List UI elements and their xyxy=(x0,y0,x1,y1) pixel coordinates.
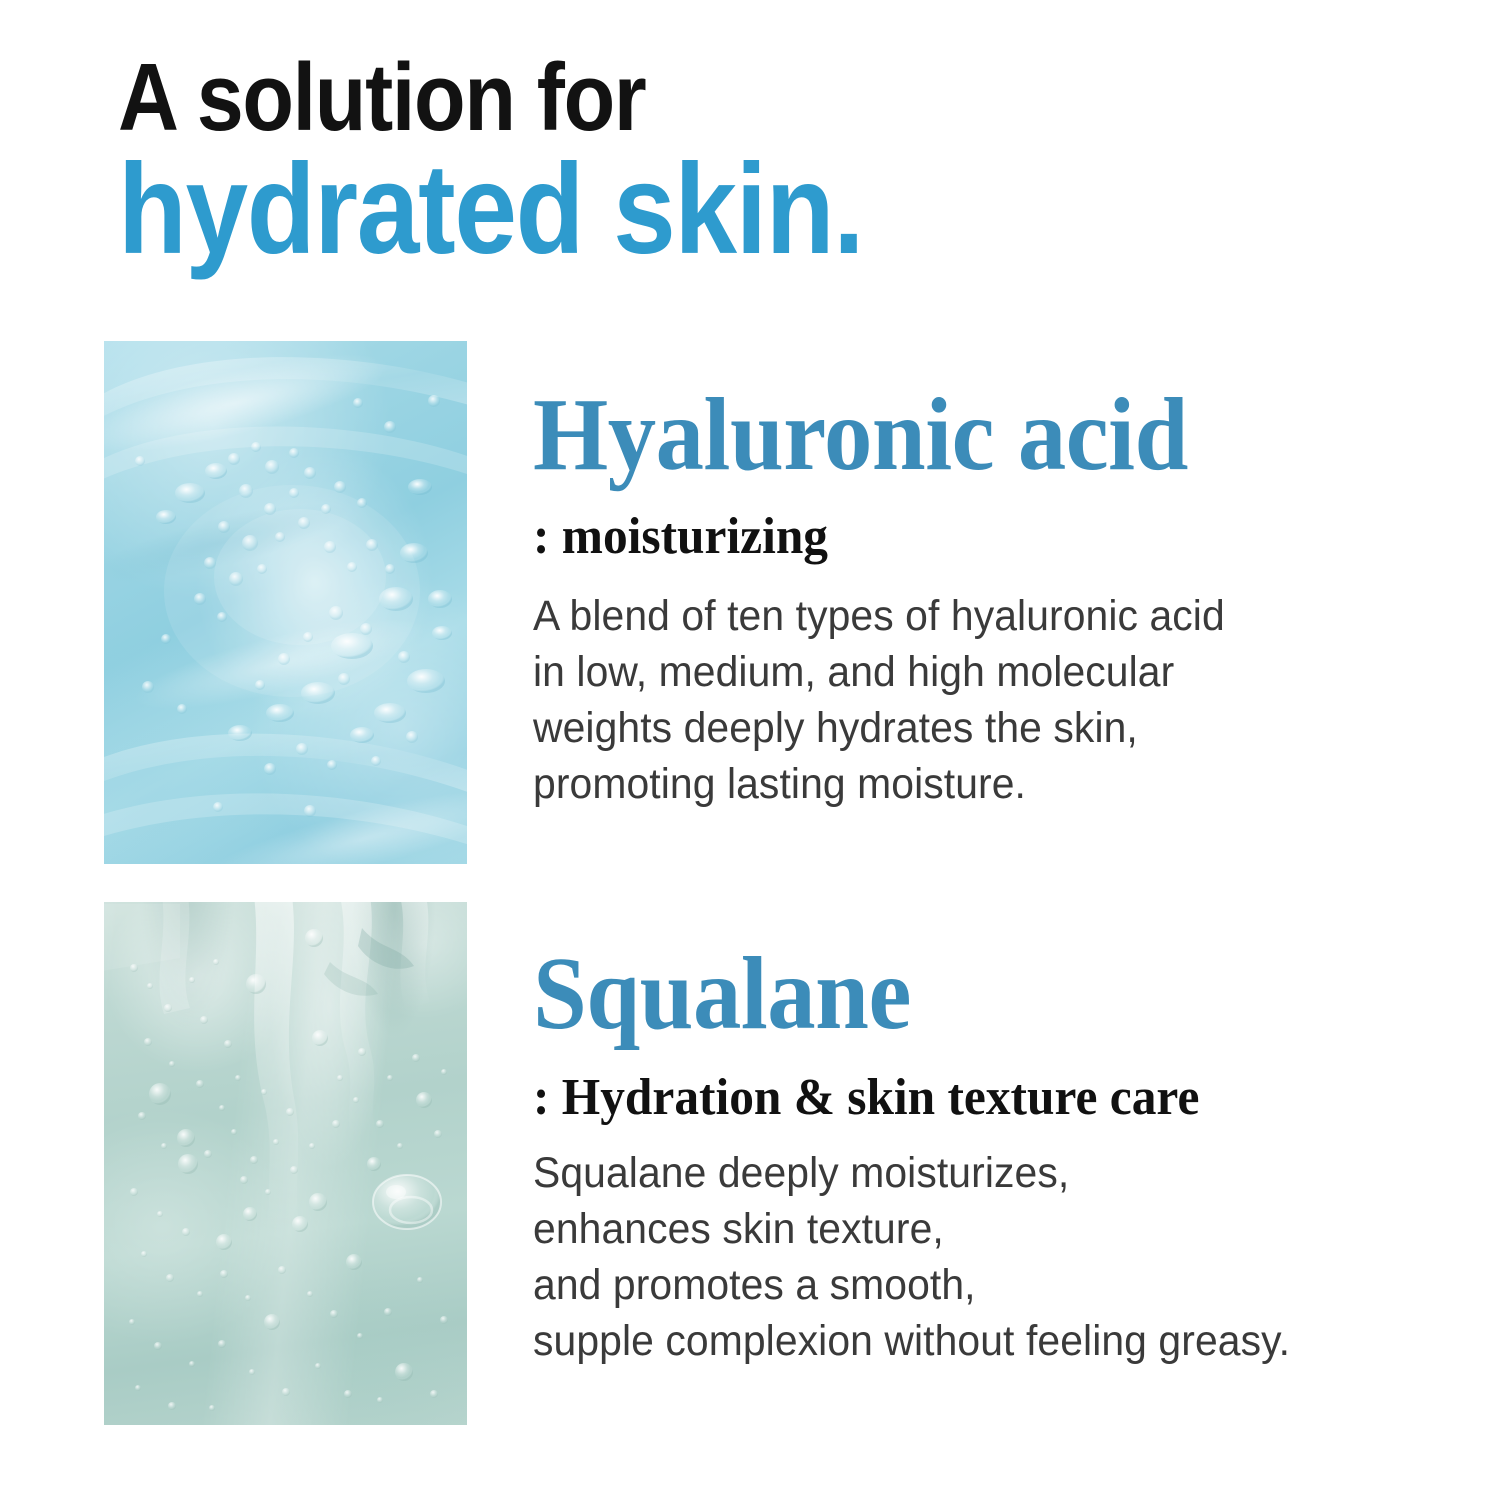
squalane-serum-texture-image xyxy=(104,902,467,1425)
ingredient-description-squalane: Squalane deeply moisturizes, enhances sk… xyxy=(533,1146,1426,1370)
description-line: supple complexion without feeling greasy… xyxy=(533,1314,1426,1370)
squalane-text-column: Squalane : Hydration & skin texture care… xyxy=(533,902,1473,1370)
ingredient-name-squalane: Squalane xyxy=(533,942,1407,1046)
infographic-page: A solution for hydrated skin. xyxy=(0,0,1500,1500)
headline-line-primary: A solution for xyxy=(118,52,1262,143)
description-line: promoting lasting moisture. xyxy=(533,757,1426,813)
description-line: weights deeply hydrates the skin, xyxy=(533,701,1426,757)
serum-bubbles-overlay xyxy=(104,902,467,1425)
gel-bubbles-overlay xyxy=(104,341,467,864)
description-line: A blend of ten types of hyaluronic acid xyxy=(533,589,1426,645)
description-line: and promotes a smooth, xyxy=(533,1258,1426,1314)
page-title: A solution for hydrated skin. xyxy=(118,52,1418,271)
ingredient-name-hyaluronic-acid: Hyaluronic acid xyxy=(533,383,1407,487)
description-line: in low, medium, and high molecular xyxy=(533,645,1426,701)
ingredient-benefit-squalane: : Hydration & skin texture care xyxy=(533,1072,1426,1124)
hyaluronic-acid-gel-texture-image xyxy=(104,341,467,864)
description-line: enhances skin texture, xyxy=(533,1202,1426,1258)
ingredient-benefit-hyaluronic-acid: : moisturizing xyxy=(533,511,1426,563)
headline-line-accent: hydrated skin. xyxy=(118,149,1262,271)
hyaluronic-acid-text-column: Hyaluronic acid : moisturizing A blend o… xyxy=(533,341,1473,813)
description-line: Squalane deeply moisturizes, xyxy=(533,1146,1426,1202)
ingredient-description-hyaluronic-acid: A blend of ten types of hyaluronic acid … xyxy=(533,589,1426,813)
